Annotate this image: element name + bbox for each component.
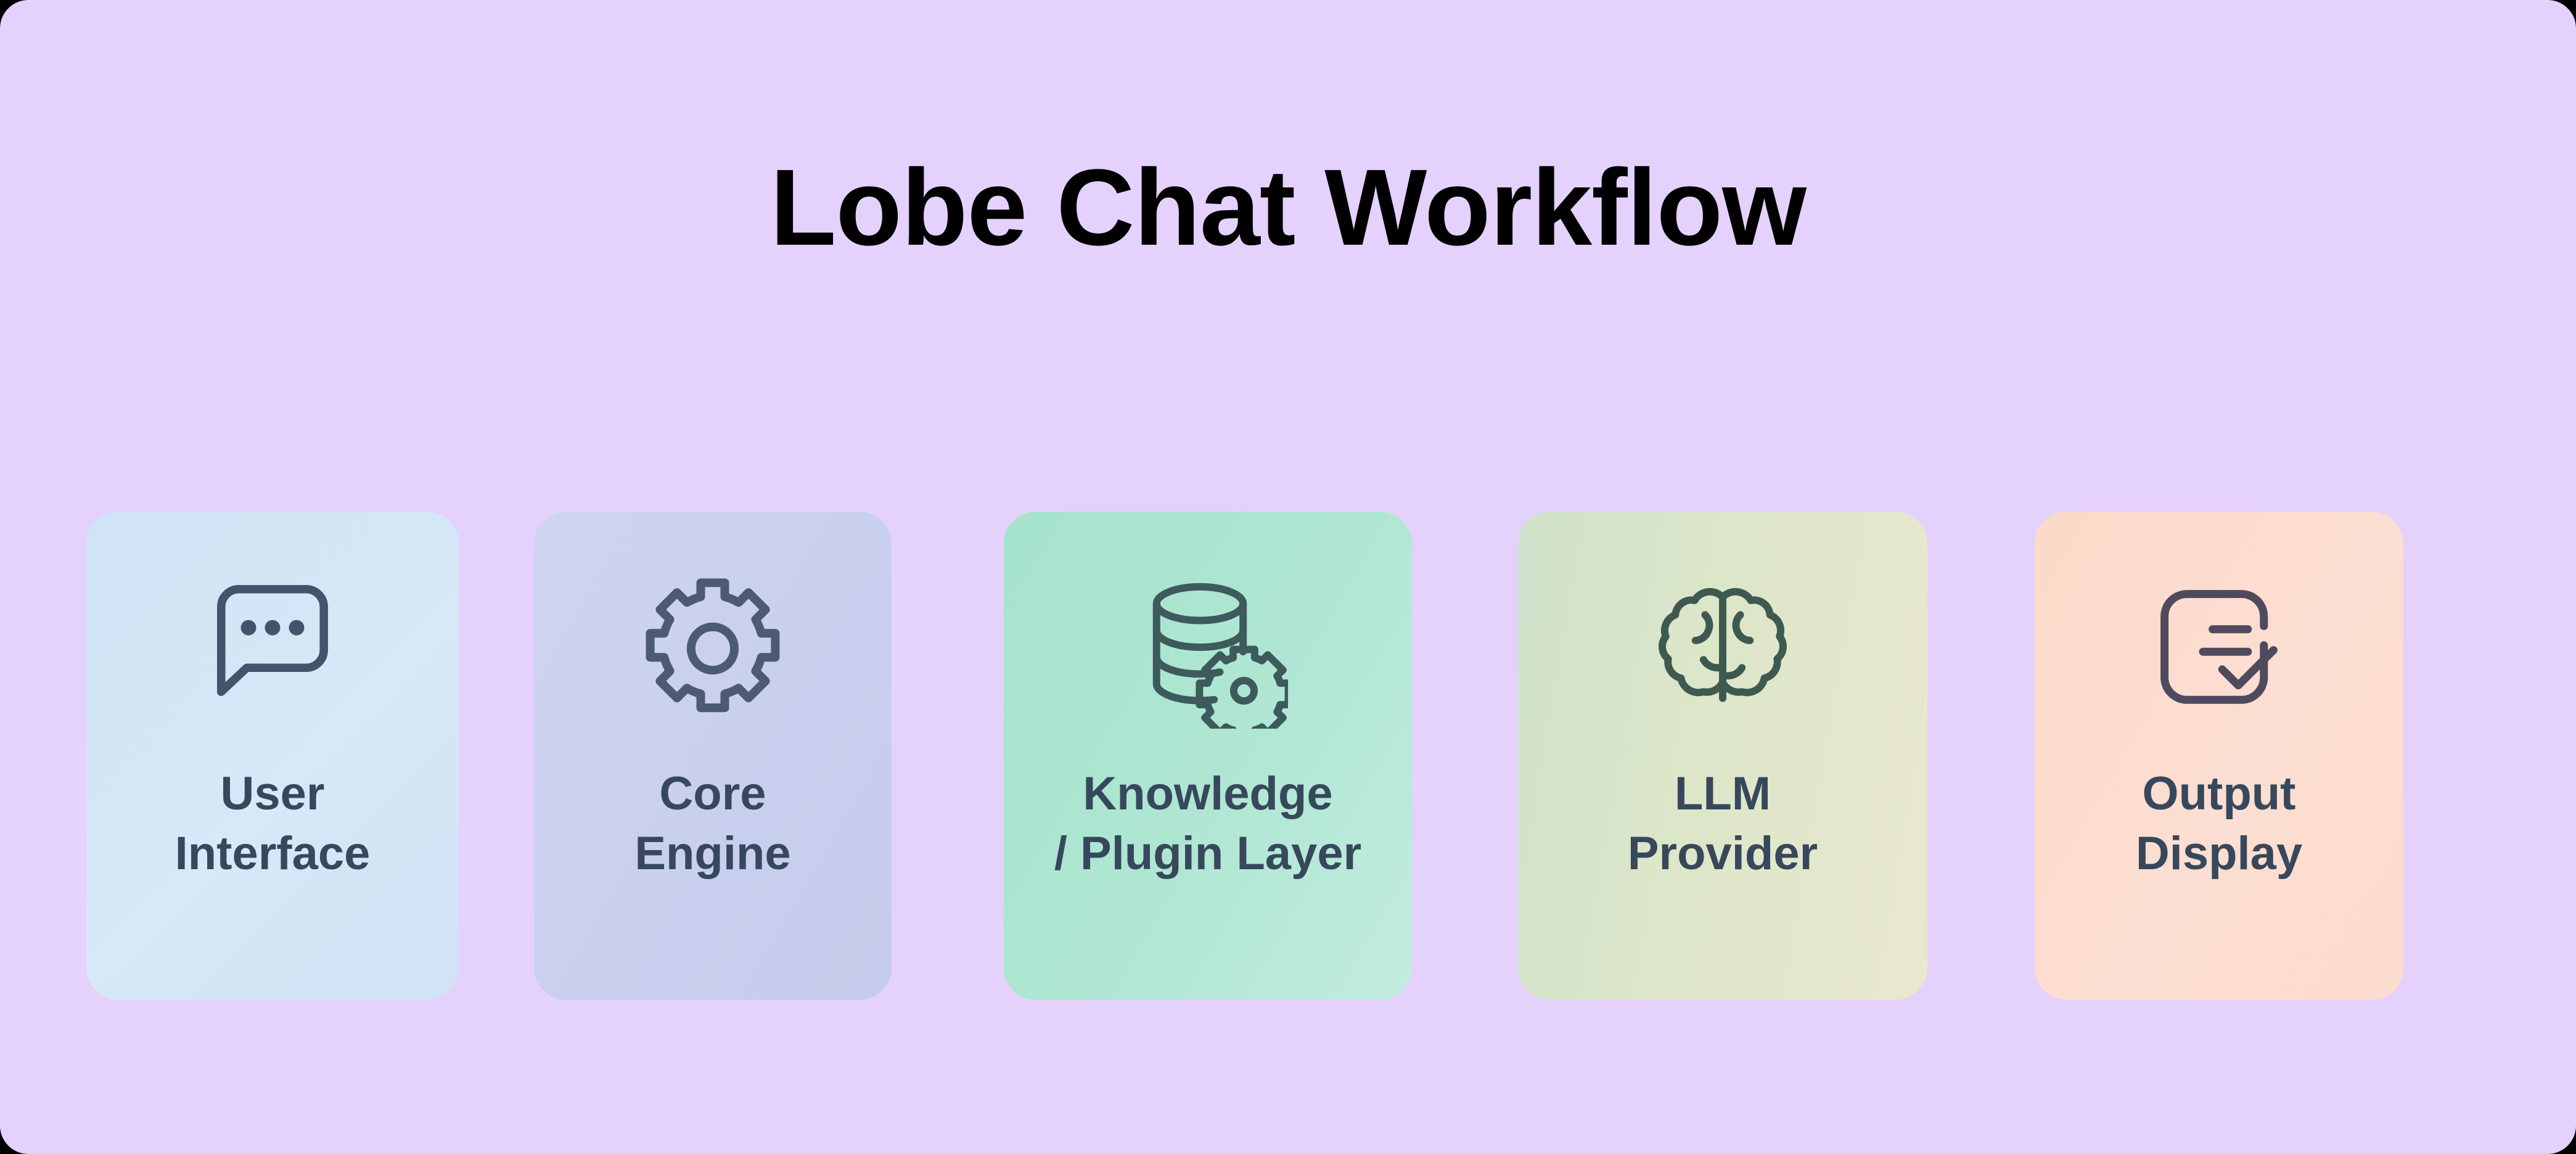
flow-node-output-display[interactable]: Output Display: [2035, 512, 2403, 1000]
flow-node-label-line2: Engine: [534, 824, 892, 884]
diagram-canvas: Lobe Chat Workflow User Interface: [0, 0, 2576, 1154]
flow-node-label-line2: Interface: [86, 824, 459, 884]
gear-icon: [633, 568, 793, 729]
flow-node-llm-provider[interactable]: LLM Provider: [1518, 512, 1927, 1000]
brain-icon: [1643, 568, 1803, 729]
chat-bubble-icon: [192, 568, 353, 729]
flow-node-knowledge-plugin-layer[interactable]: Knowledge / Plugin Layer: [1004, 512, 1412, 1000]
document-check-icon: [2139, 568, 2299, 729]
flow-node-label: Core Engine: [534, 764, 892, 883]
flow-node-label: Output Display: [2035, 764, 2403, 883]
flow-node-label-line1: Core: [659, 767, 766, 820]
flow-node-label: User Interface: [86, 764, 459, 883]
flow-node-label: Knowledge / Plugin Layer: [1004, 764, 1412, 883]
flow-node-label-line2: / Plugin Layer: [1004, 824, 1412, 884]
flow-node-label-line1: LLM: [1675, 767, 1771, 820]
flow-node-label-line2: Display: [2035, 824, 2403, 884]
flow-node-label-line1: Output: [2142, 767, 2295, 820]
flow-node-label: LLM Provider: [1518, 764, 1927, 883]
flow-node-label-line2: Provider: [1518, 824, 1927, 884]
flow-node-label-line1: User: [221, 767, 325, 820]
flow-node-core-engine[interactable]: Core Engine: [534, 512, 892, 1000]
page-title: Lobe Chat Workflow: [0, 151, 2576, 265]
flow-node-label-line1: Knowledge: [1083, 767, 1332, 820]
workflow-row: User Interface Core Engine: [0, 512, 2576, 1005]
database-gear-icon: [1128, 568, 1288, 729]
flow-node-user-interface[interactable]: User Interface: [86, 512, 459, 1000]
